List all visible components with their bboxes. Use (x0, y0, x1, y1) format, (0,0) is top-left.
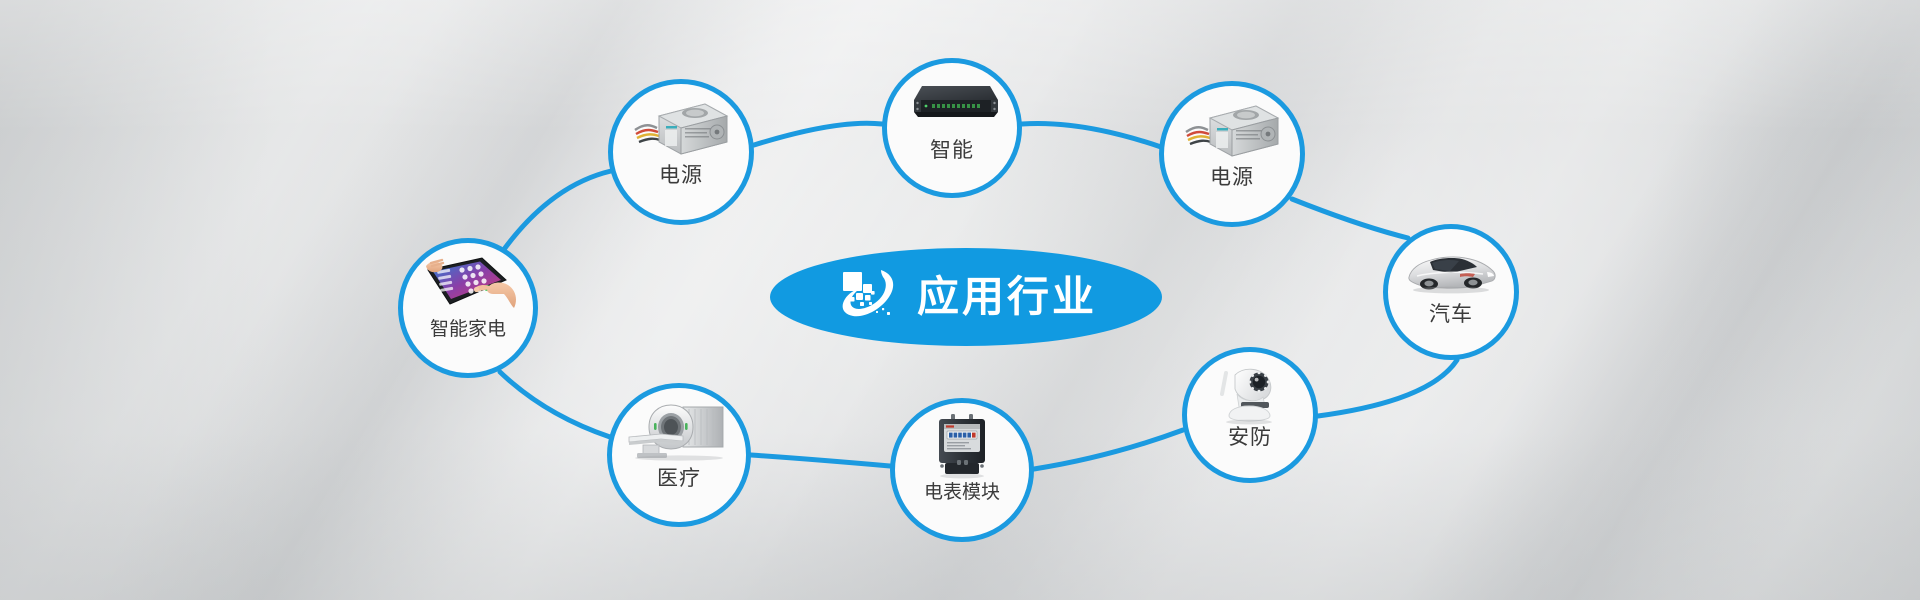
sports-car-icon (1388, 229, 1514, 302)
node-security[interactable]: 安防 (1182, 347, 1318, 483)
ip-camera-icon (1187, 352, 1313, 425)
node-smart-home[interactable]: 智能家电 (398, 238, 538, 378)
node-label: 医疗 (657, 468, 701, 489)
connector-power-supply-left-to-intelligent (754, 123, 882, 145)
connector-intelligent-to-power-supply-right (1022, 123, 1161, 147)
connector-smart-home-to-power-supply-left (505, 171, 611, 248)
application-industries-banner: 电源 (0, 0, 1920, 600)
node-medical[interactable]: 医疗 (607, 383, 751, 527)
electricity-meter-icon (895, 403, 1029, 481)
rack-server-icon (887, 63, 1017, 138)
node-label: 电表模块 (924, 483, 1000, 502)
connector-security-to-meter-module (1034, 430, 1183, 469)
node-power-supply-right[interactable]: 电源 (1159, 81, 1305, 227)
connector-automobile-to-security (1318, 360, 1457, 416)
node-label: 安防 (1228, 427, 1272, 448)
atx-power-supply-icon (613, 84, 749, 163)
center-badge-label: 应用行业 (917, 276, 1097, 318)
node-label: 电源 (659, 165, 703, 186)
atx-power-supply-icon (1164, 86, 1300, 165)
node-label: 汽车 (1429, 304, 1473, 325)
connector-meter-module-to-medical (751, 455, 890, 466)
center-badge[interactable]: 应用行业 (770, 248, 1162, 346)
connector-power-supply-right-to-automobile (1292, 199, 1408, 238)
node-power-supply-left[interactable]: 电源 (608, 79, 754, 225)
node-meter-module[interactable]: 电表模块 (890, 398, 1034, 542)
node-label: 智能 (930, 140, 974, 161)
node-intelligent[interactable]: 智能 (882, 58, 1022, 198)
node-automobile[interactable]: 汽车 (1383, 224, 1519, 360)
node-label: 电源 (1210, 167, 1254, 188)
node-label: 智能家电 (430, 320, 506, 339)
touch-tablet-icon (403, 243, 533, 318)
ct-scanner-icon (612, 388, 746, 466)
connector-medical-to-smart-home (500, 372, 610, 437)
orbit-pixel-logo-icon (835, 264, 901, 331)
